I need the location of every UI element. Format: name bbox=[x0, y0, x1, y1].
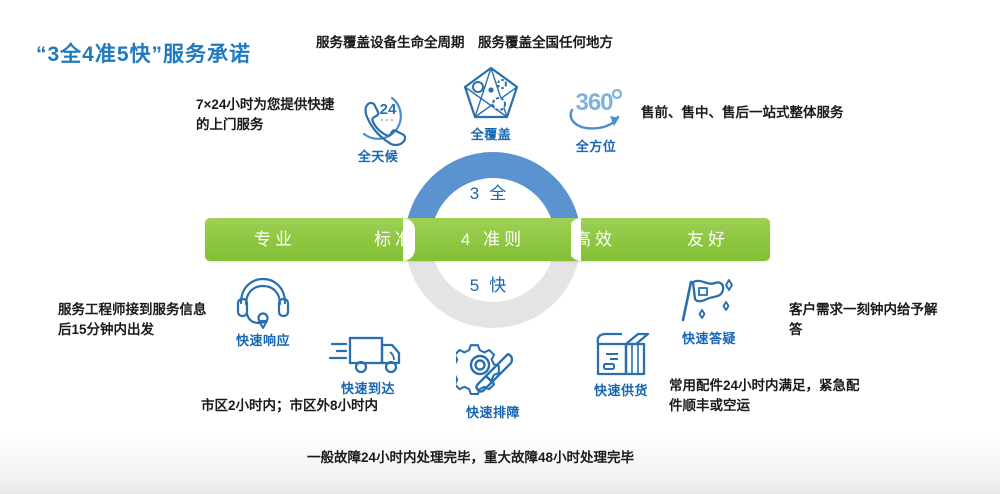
truck-icon bbox=[328, 330, 408, 378]
icon-label-all-weather: 全天候 bbox=[330, 149, 426, 165]
ring-row-3-word: 全 bbox=[489, 184, 516, 203]
icon-block-omni[interactable]: 360 全方位 bbox=[548, 84, 644, 155]
callout-bottom: 一般故障24小时内处理完毕，重大故障48小时处理完毕 bbox=[307, 448, 727, 468]
bar-segment-principles[interactable]: 4 准则 bbox=[415, 221, 571, 258]
ring-row-3: 3全 bbox=[405, 179, 581, 204]
icon-block-fast-supply[interactable]: 快速供货 bbox=[573, 328, 669, 399]
icon-label-fast-supply: 快速供货 bbox=[573, 383, 669, 399]
ring-row-5: 5快 bbox=[405, 271, 581, 296]
ring-notch-left bbox=[403, 218, 415, 261]
bar-segment-professional[interactable]: 专业 bbox=[215, 218, 335, 261]
ring-row-3-num: 3 bbox=[470, 184, 489, 203]
bar-segment-friendly[interactable]: 友好 bbox=[648, 218, 768, 261]
360-arrow-icon: 360 bbox=[560, 84, 632, 136]
callout-all-weather: 7×24小时为您提供快捷 的上门服务 bbox=[196, 95, 396, 135]
infographic-canvas: “3全4准5快”服务承诺 服务覆盖设备生命全周期 服务覆盖全国任何地方 3全 5… bbox=[0, 0, 1000, 494]
ring-row-5-word: 快 bbox=[489, 276, 516, 295]
svg-text:360: 360 bbox=[575, 89, 613, 116]
ring-row-5-num: 5 bbox=[470, 276, 489, 295]
icon-label-fast-arrival: 快速到达 bbox=[320, 381, 416, 397]
gear-screwdriver-icon bbox=[456, 344, 530, 402]
icon-block-full-coverage[interactable]: 全覆盖 bbox=[443, 62, 539, 143]
callout-fast-answer: 客户需求一刻钟内给予解 答 bbox=[789, 300, 969, 340]
callout-omni: 售前、售中、售后一站式整体服务 bbox=[641, 103, 871, 123]
callout-fast-arrival: 市区2小时内；市区外8小时内 bbox=[201, 396, 501, 416]
icon-label-fast-answer: 快速答疑 bbox=[661, 331, 757, 347]
icon-block-fast-answer[interactable]: 快速答疑 bbox=[661, 272, 757, 347]
top-banner-text: 服务覆盖设备生命全周期 服务覆盖全国任何地方 bbox=[316, 33, 613, 53]
bar-segment-principles-label: 4 准则 bbox=[415, 221, 571, 258]
open-box-icon bbox=[586, 328, 656, 380]
page-title: “3全4准5快”服务承诺 bbox=[36, 38, 251, 68]
pentagon-network-icon bbox=[459, 62, 523, 124]
flag-sparkle-icon bbox=[671, 272, 747, 328]
callout-fast-response: 服务工程师接到服务信息 后15分钟内出发 bbox=[58, 300, 288, 340]
icon-label-omni: 全方位 bbox=[548, 139, 644, 155]
icon-label-full-coverage: 全覆盖 bbox=[443, 127, 539, 143]
callout-fast-supply: 常用配件24小时内满足，紧急配 件顺丰或空运 bbox=[669, 376, 909, 416]
icon-block-fast-arrival[interactable]: 快速到达 bbox=[320, 330, 416, 397]
